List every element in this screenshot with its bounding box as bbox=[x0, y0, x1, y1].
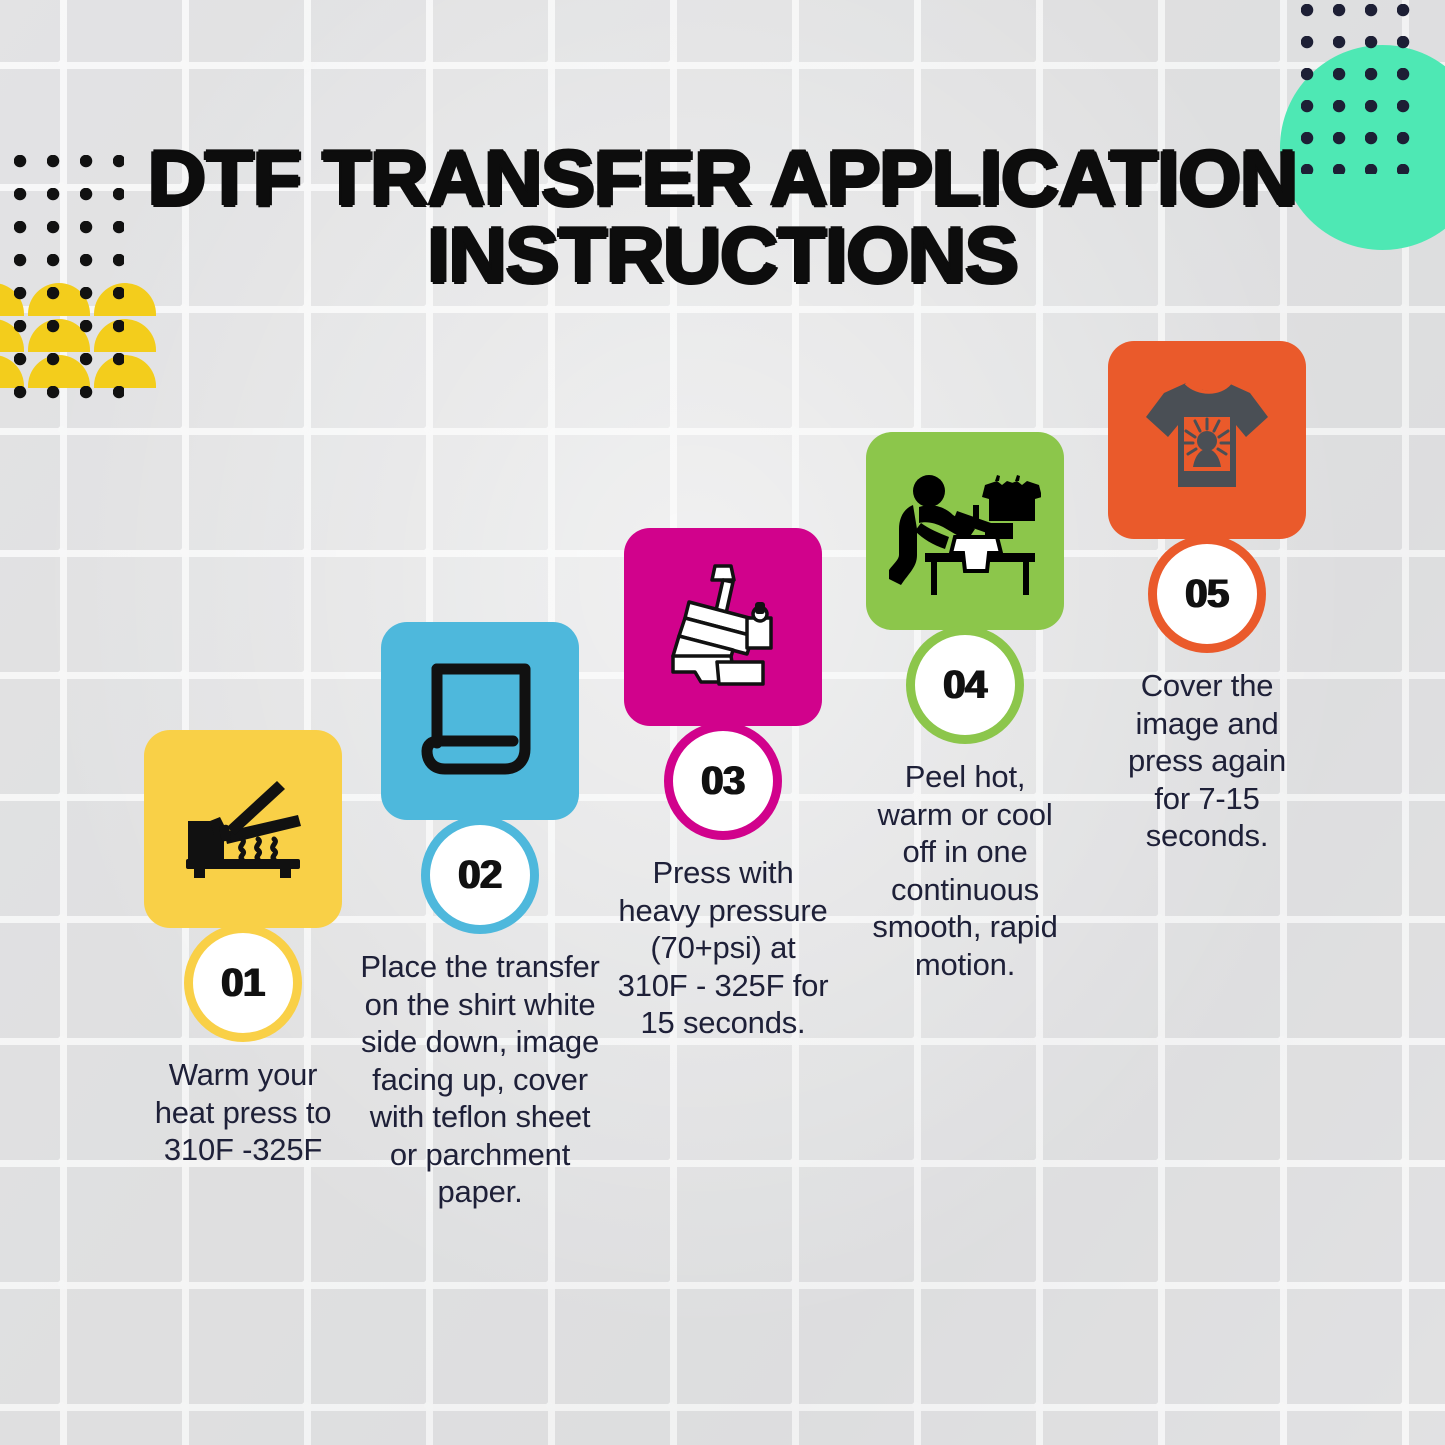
heat-press-machine-icon bbox=[661, 562, 785, 692]
bubble-circle: 01 bbox=[184, 924, 302, 1042]
page-title: DTF TRANSFER APPLICATION INSTRUCTIONS bbox=[0, 140, 1445, 294]
step-number-label: 04 bbox=[943, 663, 987, 708]
step-description-03: Press with heavy pressure (70+psi) at 31… bbox=[612, 854, 834, 1042]
step-number-bubble-03: 03 bbox=[664, 722, 782, 840]
step-number-label: 03 bbox=[701, 759, 745, 804]
step-description-02: Place the transfer on the shirt white si… bbox=[350, 948, 610, 1211]
step-description-04: Peel hot, warm or cool off in one contin… bbox=[865, 758, 1065, 983]
bubble-circle: 02 bbox=[421, 816, 539, 934]
step-number-bubble-02: 02 bbox=[421, 816, 539, 934]
step-item-02: 02 Place the transfer on the shirt white… bbox=[355, 622, 605, 1211]
step-description-01: Warm your heat press to 310F -325F bbox=[134, 1056, 352, 1169]
step-card-02[interactable] bbox=[381, 622, 579, 820]
bubble-circle: 05 bbox=[1148, 535, 1266, 653]
page-title-line-1: DTF TRANSFER APPLICATION bbox=[148, 134, 1297, 222]
step-number-bubble-04: 04 bbox=[906, 626, 1024, 744]
heat-press-open-icon bbox=[180, 777, 306, 881]
printed-tshirt-icon bbox=[1140, 375, 1274, 505]
step-number-label: 05 bbox=[1185, 572, 1229, 617]
step-number-bubble-05: 05 bbox=[1148, 535, 1266, 653]
bubble-circle: 04 bbox=[906, 626, 1024, 744]
curled-transfer-sheet-icon bbox=[421, 661, 539, 781]
step-card-01[interactable] bbox=[144, 730, 342, 928]
step-description-05: Cover the image and press again for 7-15… bbox=[1107, 667, 1307, 855]
step-item-04: 04 Peel hot, warm or cool off in one con… bbox=[840, 432, 1090, 983]
step-item-01: 01 Warm your heat press to 310F -325F bbox=[118, 730, 368, 1169]
bubble-circle: 03 bbox=[664, 722, 782, 840]
step-card-03[interactable] bbox=[624, 528, 822, 726]
page-title-line-2: INSTRUCTIONS bbox=[0, 217, 1445, 294]
step-number-bubble-01: 01 bbox=[184, 924, 302, 1042]
step-card-05[interactable] bbox=[1108, 341, 1306, 539]
step-card-04[interactable] bbox=[866, 432, 1064, 630]
person-pressing-shirt-icon bbox=[889, 467, 1041, 595]
step-number-label: 01 bbox=[221, 961, 265, 1006]
step-number-label: 02 bbox=[458, 853, 502, 898]
step-item-05: 05 Cover the image and press again for 7… bbox=[1082, 341, 1332, 855]
step-item-03: 03 Press with heavy pressure (70+psi) at… bbox=[598, 528, 848, 1042]
